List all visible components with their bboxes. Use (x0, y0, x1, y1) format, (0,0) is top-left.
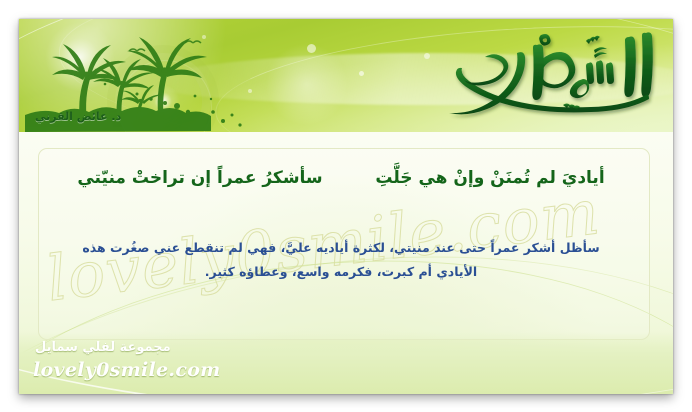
author-name: د. عائض القرني (35, 110, 121, 123)
brand-title (413, 23, 663, 128)
content-area: lovely0smile.com أياديَ لم تُمنَنْ وإنْ … (19, 132, 673, 394)
footer-group-name: مجموعة لفلي سمايل (35, 340, 171, 355)
poster-card: د. عائض القرني (19, 19, 673, 394)
poster-page: د. عائض القرني (0, 0, 692, 412)
header-banner: د. عائض القرني (19, 19, 673, 132)
bokeh-dot-icon (307, 44, 316, 53)
footer-site-url[interactable]: lovely0smile.com (33, 359, 221, 381)
paragraph-line-1: سأظل أشكر عمراً حتى عند منيتي، لكثرة أيا… (61, 236, 621, 260)
verse-hemistich-right: سأشكرُ عمراً إن تراختْ منيّتي (55, 168, 345, 188)
paragraph-line-2: الأيادي أم كبرت، فكرمه واسع، وعطاؤه كثير… (61, 260, 621, 284)
explanation-paragraph: سأظل أشكر عمراً حتى عند منيتي، لكثرة أيا… (61, 236, 621, 284)
verse-hemistich-left: أياديَ لم تُمنَنْ وإنْ هي جَلَّتِ (345, 168, 635, 188)
footer-bar: مجموعة لفلي سمايل lovely0smile.com (19, 332, 673, 394)
verse-line: أياديَ لم تُمنَنْ وإنْ هي جَلَّتِسأشكرُ … (49, 168, 641, 188)
